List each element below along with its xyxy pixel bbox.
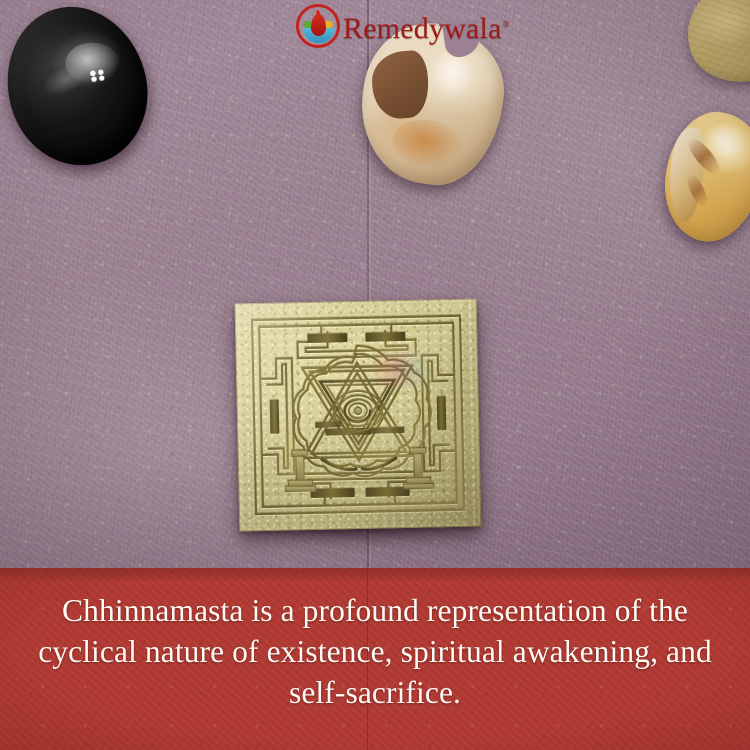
registered-trademark-symbol: ® xyxy=(503,19,510,29)
lotus-logo-icon xyxy=(296,4,340,48)
logo-petal xyxy=(311,14,326,36)
brand-name-text: Remedywala xyxy=(343,12,502,45)
caption-banner: Chhinnamasta is a profound representatio… xyxy=(0,568,750,750)
brand-name: Remedywala® xyxy=(343,9,510,44)
image-canvas: Remedywala® Chhinnamasta is a profound r… xyxy=(0,0,750,750)
product-photo: Remedywala® xyxy=(0,0,750,568)
caption-text: Chhinnamasta is a profound representatio… xyxy=(0,590,750,713)
photo-vignette xyxy=(0,0,750,568)
brand-logo[interactable]: Remedywala® xyxy=(296,4,510,48)
